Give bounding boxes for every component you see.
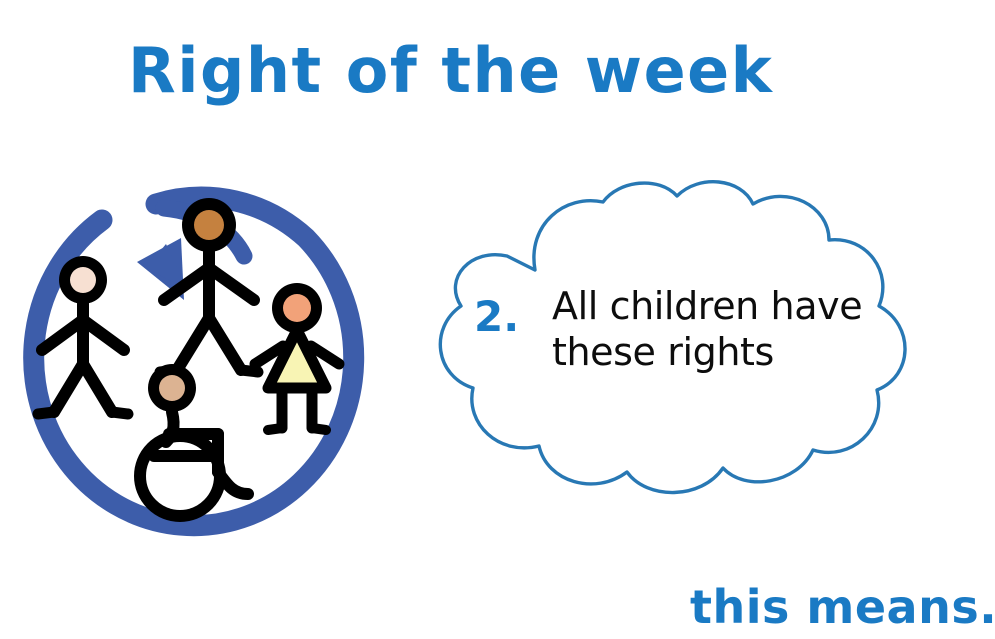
inclusion-icon [6, 160, 386, 540]
cloud-item-number: 2. [474, 296, 519, 338]
slide-canvas: Right of the week [0, 0, 995, 639]
bottom-caption: this means... [690, 583, 995, 631]
cloud-text: All children have these rights [552, 283, 924, 376]
person-wheelchair-figure [140, 364, 248, 516]
page-title: Right of the week [128, 38, 828, 103]
cloud-text-line-1: All children have [552, 283, 924, 329]
girl-yellow-dress-figure [255, 283, 339, 430]
cloud-text-line-2: these rights [552, 329, 924, 375]
